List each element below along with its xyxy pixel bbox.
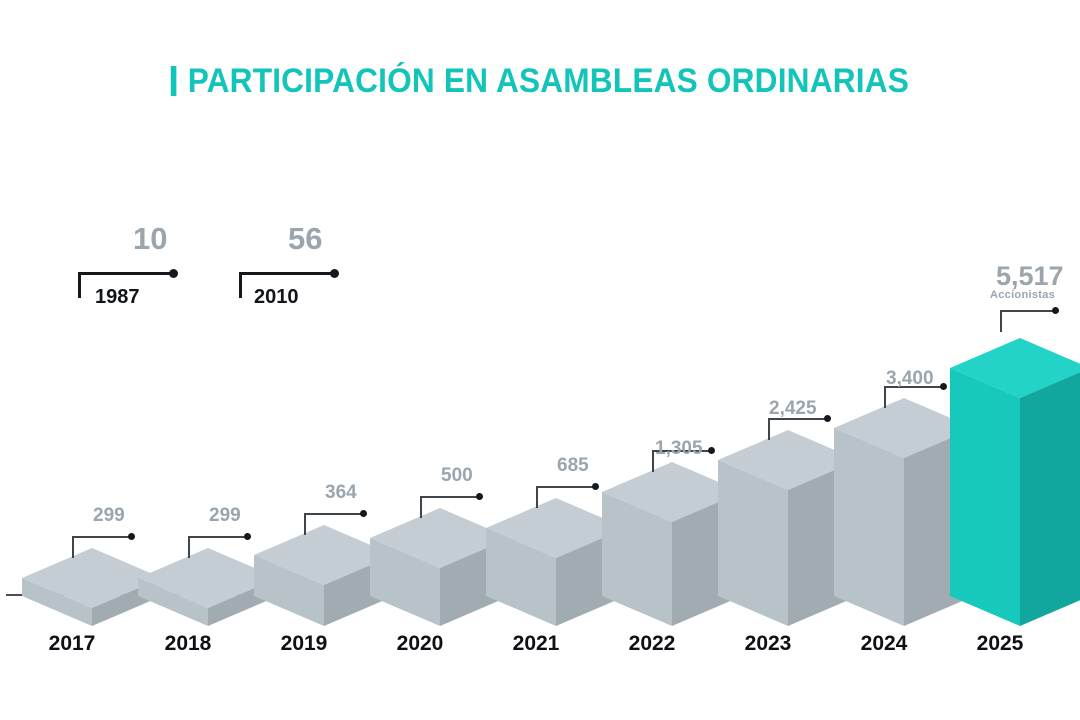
leader-horizontal-1987 — [78, 272, 174, 275]
leader-vertical-2018 — [188, 536, 190, 558]
leader-vertical-2021 — [536, 486, 538, 508]
leader-horizontal-2019 — [304, 513, 364, 515]
leader-horizontal-2018 — [188, 536, 248, 538]
bar-value-2025-subtitle: Accionistas — [990, 289, 1055, 301]
leader-dot-2010 — [330, 269, 339, 278]
leader-dot-2025 — [1052, 307, 1059, 314]
historic-value-2010: 56 — [288, 221, 322, 257]
leader-vertical-2025 — [1000, 310, 1002, 332]
title-accent-bar — [171, 66, 177, 96]
bar-2025[interactable] — [946, 338, 1080, 626]
bar-value-2018: 299 — [209, 505, 241, 527]
leader-horizontal-2020 — [420, 496, 480, 498]
leader-horizontal-2025 — [1000, 310, 1056, 312]
bar-year-2020: 2020 — [380, 632, 460, 656]
leader-vertical-2017 — [72, 536, 74, 558]
bar-year-2024: 2024 — [844, 632, 924, 656]
historic-year-1987: 1987 — [95, 286, 140, 309]
page-title: PARTICIPACIÓN EN ASAMBLEAS ORDINARIAS — [38, 62, 1042, 101]
chart-canvas: PARTICIPACIÓN EN ASAMBLEAS ORDINARIAS 10… — [0, 0, 1080, 720]
leader-vertical-2022 — [652, 450, 654, 472]
bar-value-2019: 364 — [325, 482, 357, 504]
leader-vertical-2019 — [304, 513, 306, 535]
bar-value-2022: 1,305 — [655, 438, 703, 460]
bar-year-2022: 2022 — [612, 632, 692, 656]
bar-value-2024: 3,400 — [886, 368, 934, 390]
title-text: PARTICIPACIÓN EN ASAMBLEAS ORDINARIAS — [188, 62, 909, 101]
historic-value-1987: 10 — [133, 221, 167, 257]
leader-horizontal-2010 — [239, 272, 335, 275]
leader-horizontal-2021 — [536, 486, 596, 488]
bar-value-2020: 500 — [441, 465, 473, 487]
bar-value-2021: 685 — [557, 455, 589, 477]
bar-year-2017: 2017 — [32, 632, 112, 656]
leader-vertical-2020 — [420, 496, 422, 518]
bar-year-2019: 2019 — [264, 632, 344, 656]
leader-dot-2017 — [128, 533, 135, 540]
bar-value-2025: 5,517 — [996, 261, 1064, 292]
bar-value-2017: 299 — [93, 505, 125, 527]
leader-horizontal-2017 — [72, 536, 132, 538]
bar-value-2023: 2,425 — [769, 398, 817, 420]
bar-year-2023: 2023 — [728, 632, 808, 656]
leader-vertical-2010 — [239, 272, 242, 298]
bar-year-2021: 2021 — [496, 632, 576, 656]
leader-vertical-1987 — [78, 272, 81, 298]
bar-year-2018: 2018 — [148, 632, 228, 656]
bar-year-2025: 2025 — [960, 632, 1040, 656]
historic-year-2010: 2010 — [254, 286, 299, 309]
leader-vertical-2023 — [768, 418, 770, 440]
leader-dot-1987 — [169, 269, 178, 278]
